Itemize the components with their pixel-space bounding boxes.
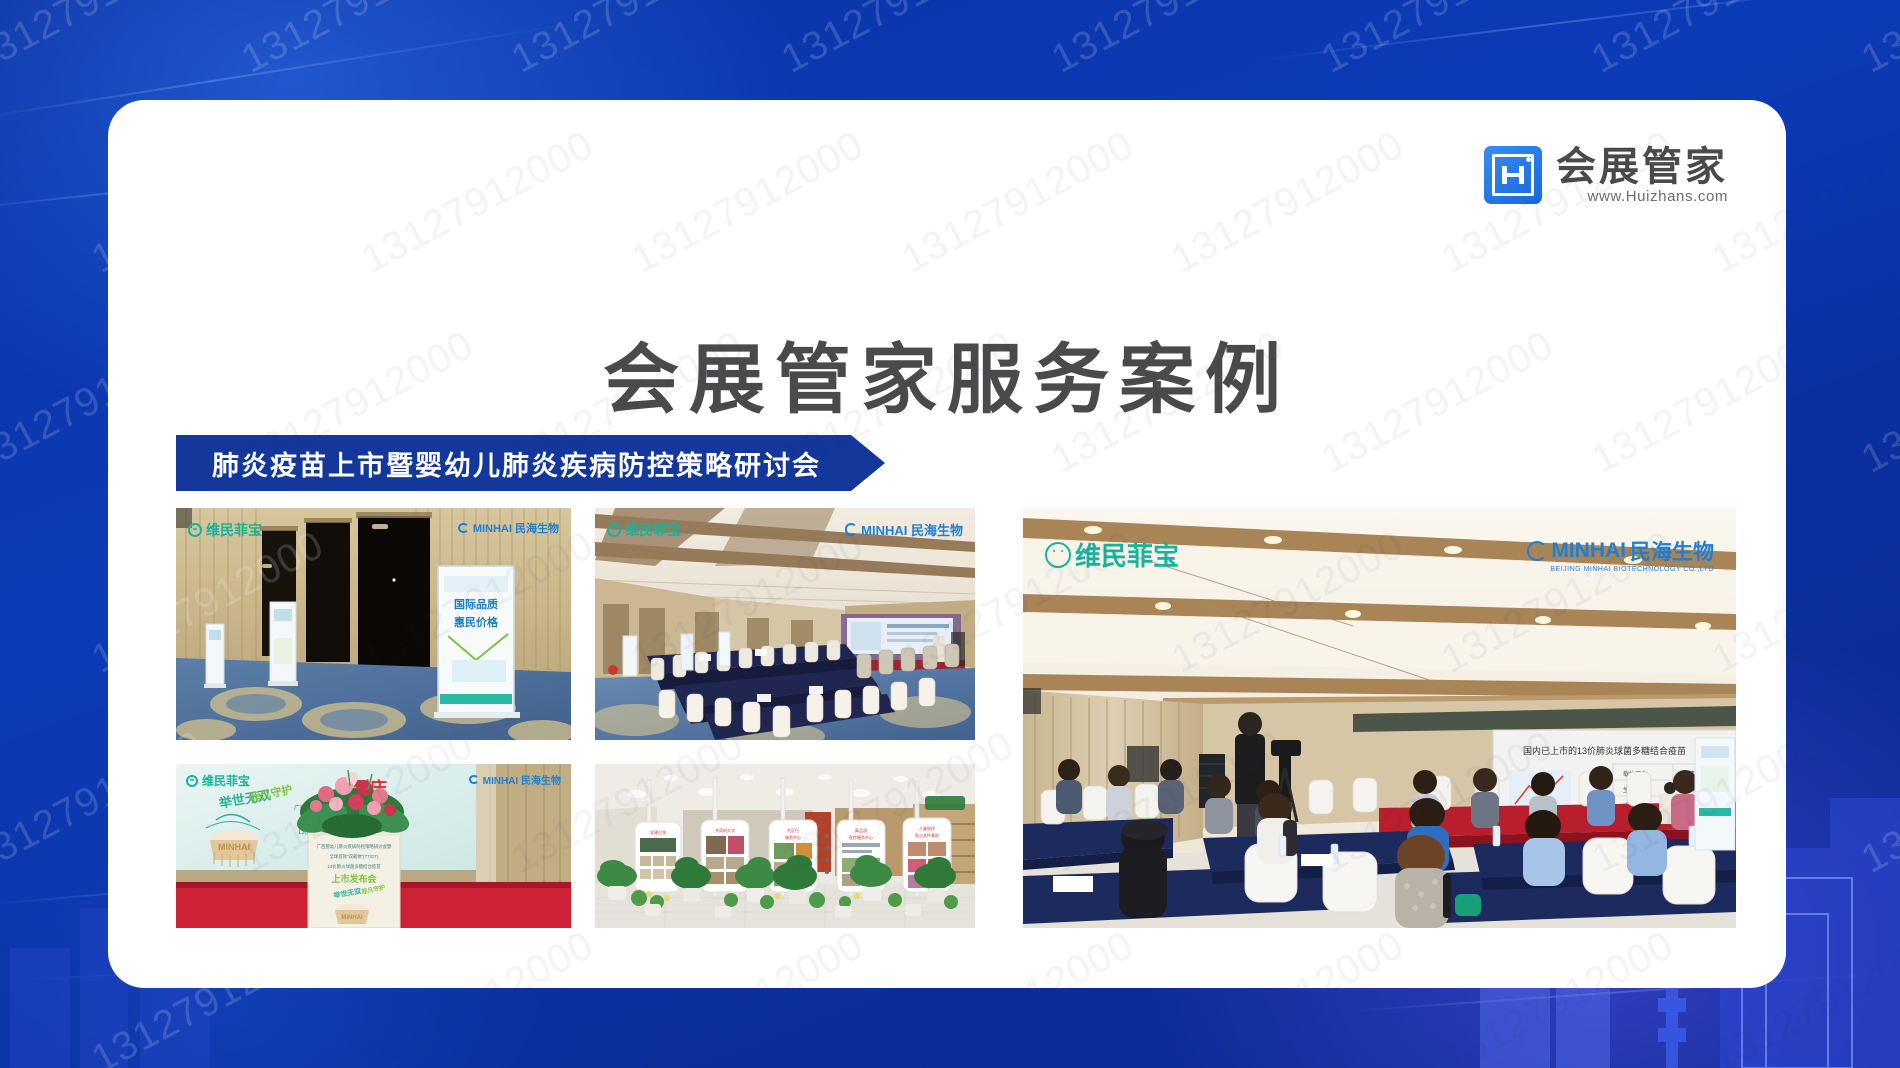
brand-name: 会展管家 (1556, 147, 1728, 187)
svg-text:惠民价格: 惠民价格 (454, 615, 499, 629)
event-banner-arrow-icon (851, 435, 885, 491)
stage-welcome-board-photo[interactable]: 热烈庆 广西婴幼儿肺炎疾病防控策略研讨会暨 全球首款“双载体”(TT/DT) 1… (176, 764, 571, 928)
event-banner: 肺炎疫苗上市暨婴幼儿肺炎疾病防控策略研讨会 (176, 435, 885, 491)
brand-logo[interactable]: 会展管家 www.Huizhans.com (1484, 146, 1728, 204)
brand-url: www.Huizhans.com (1556, 189, 1728, 204)
svg-text:党建引领: 党建引领 (650, 829, 666, 835)
content-card: 会展管家 www.Huizhans.com 会展管家服务案例 肺炎疫苗上市暨婴幼… (108, 100, 1786, 988)
svg-text:社区行: 社区行 (787, 827, 799, 833)
audience-session-photo[interactable]: 国内已上市的13价肺炎球菌多糖结合疫苗 载体蛋白血清型 生产企业接种程序 适用年… (1023, 508, 1736, 928)
svg-text:MINHAI: MINHAI (341, 915, 363, 921)
screen-title-text: 国内已上市的13价肺炎球菌多糖结合疫苗 (1523, 745, 1686, 756)
svg-text:MINHAI: MINHAI (218, 842, 250, 852)
photo-gallery: 国际品质 惠民价格 维民菲宝 MINHAI 民海生物 (176, 508, 1736, 928)
event-banner-body: 肺炎疫苗上市暨婴幼儿肺炎疾病防控策略研讨会 (176, 435, 851, 491)
svg-text:高品质: 高品质 (855, 827, 867, 833)
exhibition-boards-photo[interactable]: 党建引领 共同的大学 社区行 服务中心 (595, 764, 975, 928)
svg-text:全球首款“双载体”(TT/DT): 全球首款“双载体”(TT/DT) (329, 853, 379, 860)
svg-text:上市发布会: 上市发布会 (331, 873, 377, 884)
svg-text:国际品质: 国际品质 (454, 597, 498, 611)
venue-entrance-photo[interactable]: 国际品质 惠民价格 维民菲宝 MINHAI 民海生物 (176, 508, 571, 740)
page-title: 会展管家服务案例 (108, 318, 1786, 428)
svg-text:服务中心: 服务中心 (785, 834, 801, 840)
event-banner-label: 肺炎疫苗上市暨婴幼儿肺炎疾病防控策略研讨会 (212, 444, 821, 483)
svg-text:儿童陪伴: 儿童陪伴 (919, 825, 935, 831)
svg-text:共同的大学: 共同的大学 (715, 827, 735, 833)
svg-text:贴心关怀基地: 贴心关怀基地 (915, 832, 939, 838)
svg-text:13价肺炎球菌多糖结合疫苗: 13价肺炎球菌多糖结合疫苗 (327, 863, 381, 870)
empty-conference-hall-photo[interactable]: 维民菲宝 MINHAI 民海生物 (595, 508, 975, 740)
huizhans-h-logo-icon (1484, 146, 1542, 204)
svg-text:医疗服务中心: 医疗服务中心 (849, 834, 873, 840)
light-streak (1250, 0, 1900, 62)
svg-text:广西婴幼儿肺炎疾病防控策略研讨会暨: 广西婴幼儿肺炎疾病防控策略研讨会暨 (317, 843, 392, 850)
